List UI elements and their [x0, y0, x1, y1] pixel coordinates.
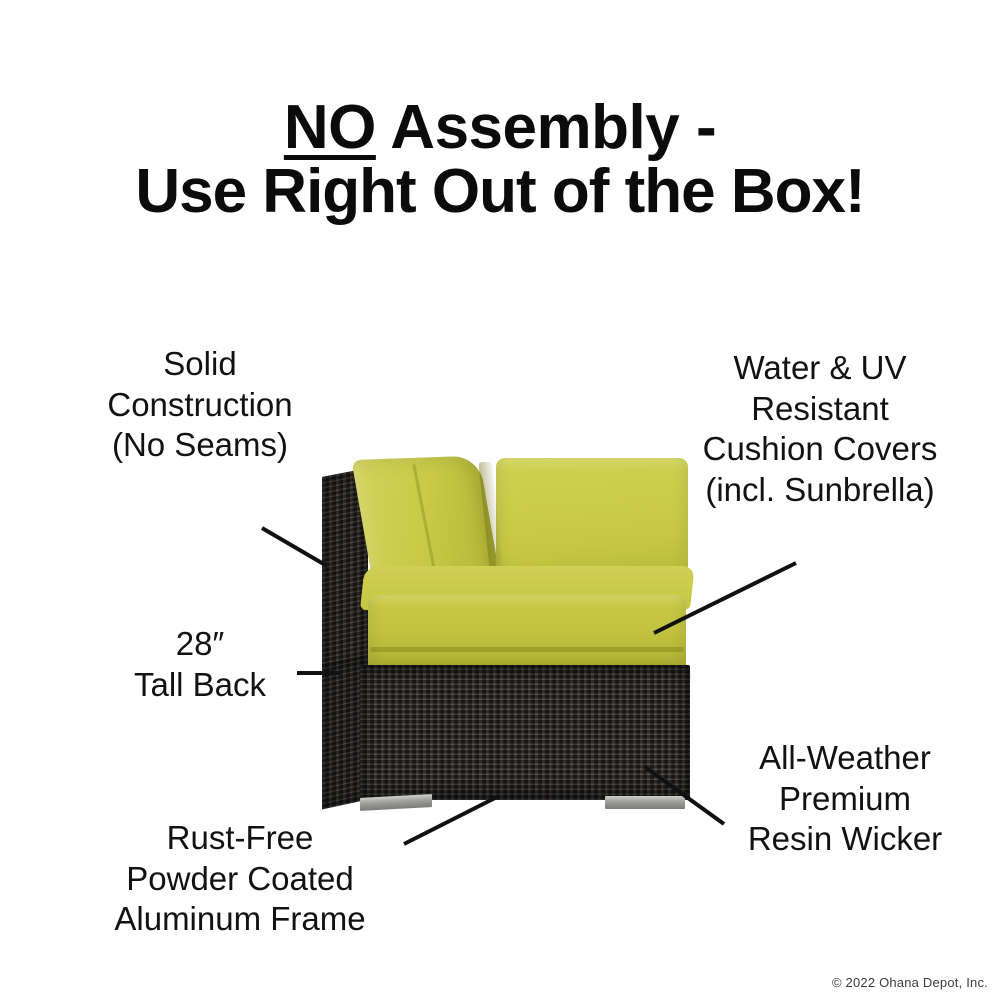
callout-aluminum-frame-line-2: Powder Coated [40, 859, 440, 900]
page-title: NO Assembly - Use Right Out of the Box! [0, 96, 1000, 224]
callout-solid-construction-line-2: Construction [20, 385, 380, 426]
chair-seat-cushion-piping [370, 647, 684, 652]
callout-water-uv-line-2: Resistant [640, 389, 1000, 430]
callout-tall-back-line-1: 28″ [90, 624, 310, 665]
callout-solid-construction-line-1: Solid [20, 344, 380, 385]
callout-resin-wicker-line-3: Resin Wicker [700, 819, 990, 860]
callout-tall-back: 28″ Tall Back [90, 624, 310, 705]
chair-foot-left [360, 794, 432, 811]
chair-foot-right [605, 796, 685, 809]
infographic-canvas: NO Assembly - Use Right Out of the Box! … [0, 0, 1000, 1000]
headline-line-1: NO Assembly - [0, 96, 1000, 160]
callout-water-uv-resistant-cushion-covers: Water & UV Resistant Cushion Covers (inc… [640, 348, 1000, 510]
callout-solid-construction: Solid Construction (No Seams) [20, 344, 380, 466]
copyright-notice: © 2022 Ohana Depot, Inc. [832, 975, 988, 990]
callout-resin-wicker-line-1: All-Weather [700, 738, 990, 779]
callout-water-uv-line-1: Water & UV [640, 348, 1000, 389]
callout-aluminum-frame-line-1: Rust-Free [40, 818, 440, 859]
headline-line-2: Use Right Out of the Box! [0, 160, 1000, 224]
chair-base-front-wicker [360, 665, 690, 800]
callout-all-weather-resin-wicker: All-Weather Premium Resin Wicker [700, 738, 990, 860]
headline-line-1-rest: Assembly - [376, 93, 716, 162]
callout-water-uv-line-4: (incl. Sunbrella) [640, 470, 1000, 511]
callout-water-uv-line-3: Cushion Covers [640, 429, 1000, 470]
callout-tall-back-line-2: Tall Back [90, 665, 310, 706]
callout-rust-free-aluminum-frame: Rust-Free Powder Coated Aluminum Frame [40, 818, 440, 940]
callout-solid-construction-line-3: (No Seams) [20, 425, 380, 466]
callout-aluminum-frame-line-3: Aluminum Frame [40, 899, 440, 940]
callout-resin-wicker-line-2: Premium [700, 779, 990, 820]
headline-emphasis-no: NO [284, 93, 376, 162]
